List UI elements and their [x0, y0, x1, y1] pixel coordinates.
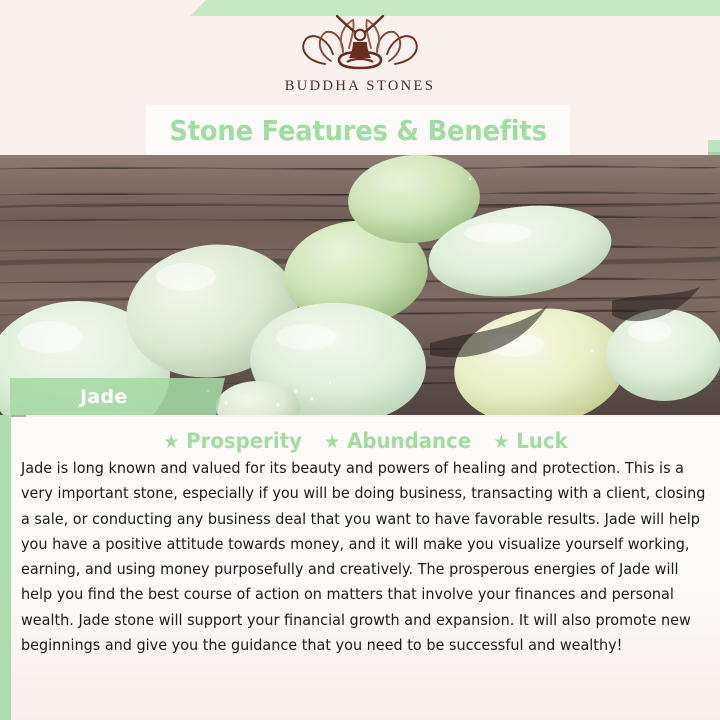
stone-photo — [0, 155, 720, 415]
benefit-label-prosperity: Prosperity — [186, 429, 302, 453]
brand-name: BUDDHA STONES — [285, 78, 436, 95]
stone-name-band: Jade — [10, 378, 225, 415]
lotus-meditating-figure-icon — [295, 14, 425, 76]
page-title: Stone Features & Benefits — [169, 114, 546, 147]
stone-description: Jade is long known and valued for its be… — [21, 456, 713, 658]
star-icon-2: ★ — [324, 431, 340, 453]
star-icon-1: ★ — [163, 431, 179, 453]
benefits-row: ★ Prosperity ★ Abundance ★ Luck — [38, 429, 693, 453]
benefit-label-luck: Luck — [516, 429, 567, 453]
title-panel: Stone Features & Benefits — [146, 105, 570, 155]
stone-features-card: BUDDHA STONES Stone Features & Benefits — [0, 0, 720, 720]
star-icon-3: ★ — [493, 431, 509, 453]
benefit-label-abundance: Abundance — [347, 429, 471, 453]
stone-name: Jade — [80, 386, 128, 408]
content-panel: ★ Prosperity ★ Abundance ★ Luck Jade is … — [11, 417, 720, 720]
decorative-left-lower-green-strip — [0, 415, 11, 720]
brand-logo: BUDDHA STONES — [0, 14, 720, 104]
